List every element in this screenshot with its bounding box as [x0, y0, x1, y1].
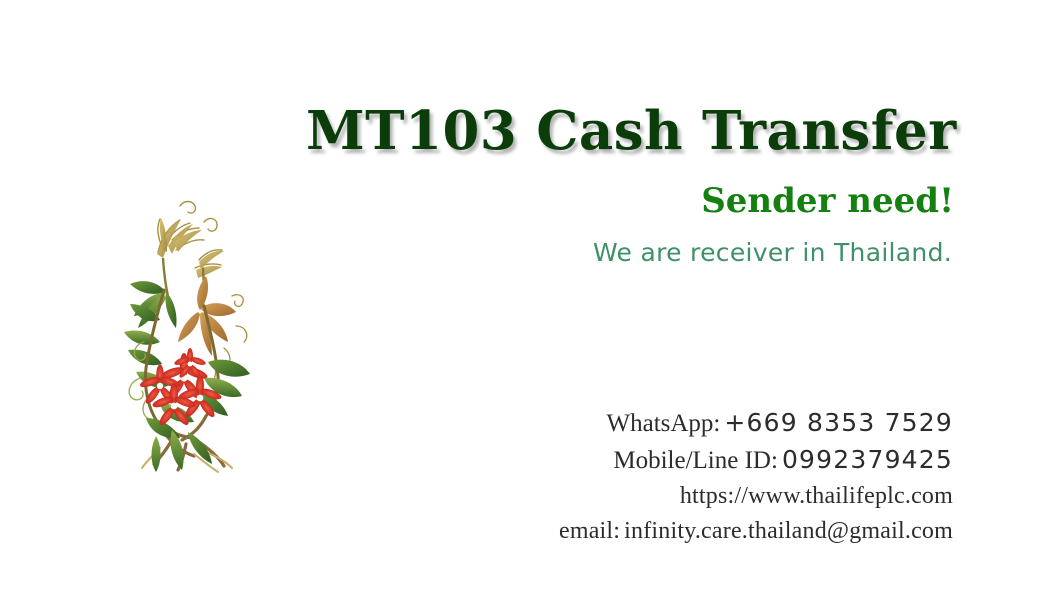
website-url[interactable]: https://www.thailifeplc.com — [680, 483, 953, 509]
email-address[interactable]: infinity.care.thailand@gmail.com — [624, 518, 953, 544]
whatsapp-label: WhatsApp: — [607, 410, 721, 437]
contact-block: WhatsApp: +669 8353 7529 Mobile/Line ID:… — [440, 406, 953, 550]
headline-block: MT103 Cash Transfer Sender need! We are … — [300, 100, 960, 270]
page-subtitle: Sender need! — [300, 178, 960, 224]
page-title: MT103 Cash Transfer — [300, 100, 960, 162]
contact-line-email: email: infinity.care.thailand@gmail.com — [440, 515, 953, 550]
poster-canvas: MT103 Cash Transfer Sender need! We are … — [0, 0, 1063, 600]
contact-line-whatsapp: WhatsApp: +669 8353 7529 — [440, 406, 953, 443]
whatsapp-number[interactable]: +669 8353 7529 — [724, 408, 953, 437]
botanical-wreath-illustration — [100, 192, 266, 474]
page-tagline: We are receiver in Thailand. — [300, 236, 960, 270]
mobile-line-id-number[interactable]: 0992379425 — [782, 445, 953, 474]
mobile-line-id-label: Mobile/Line ID: — [613, 447, 778, 474]
email-label: email: — [559, 518, 620, 544]
contact-line-mobile: Mobile/Line ID: 0992379425 — [440, 443, 953, 480]
contact-line-website: https://www.thailifeplc.com — [440, 480, 953, 515]
